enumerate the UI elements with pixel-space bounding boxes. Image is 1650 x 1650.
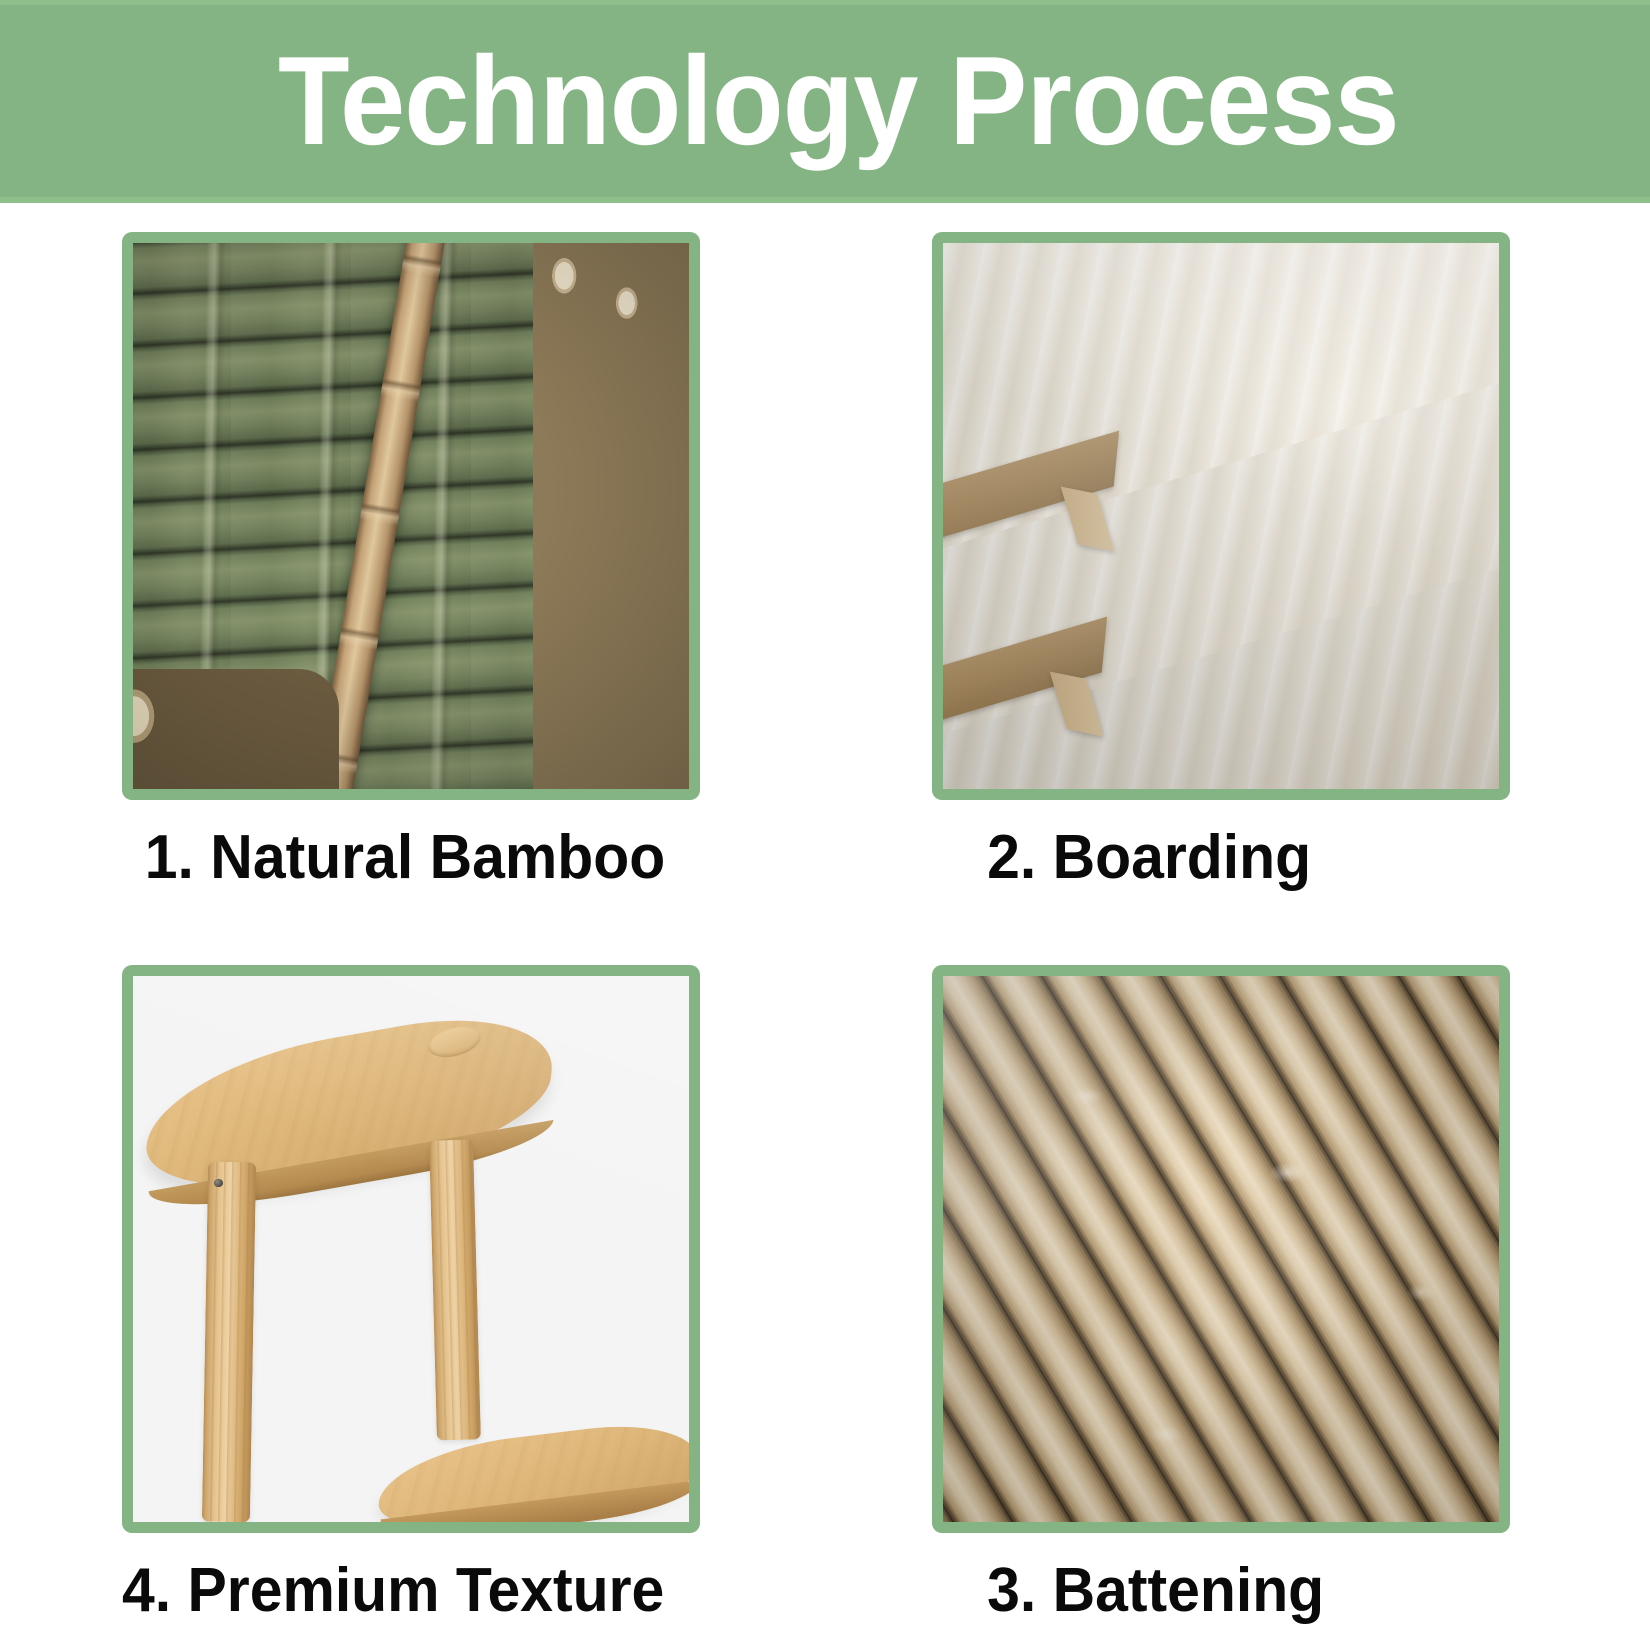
bamboo-battens-illustration [943, 976, 1499, 1522]
table-screw [214, 1179, 222, 1187]
bamboo-side-table-illustration [133, 976, 689, 1522]
process-step-1: 1. Natural Bamboo [122, 232, 700, 893]
photo-lighting-overlay [943, 976, 1499, 1522]
step-3-caption: 3. Battening [932, 1555, 1481, 1626]
photo-premium-texture [133, 976, 689, 1522]
step-4-caption: 4. Premium Texture [122, 1555, 671, 1626]
process-step-4: 4. Premium Texture [122, 965, 700, 1626]
process-steps-grid: 1. Natural Bamboo 2. [0, 203, 1650, 1650]
image-frame-step-1 [122, 232, 700, 800]
bamboo-poles-illustration [133, 243, 689, 789]
process-step-3: 3. Battening [932, 965, 1510, 1626]
page-title: Technology Process [278, 38, 1399, 164]
table-leg-front [202, 1161, 256, 1522]
bamboo-boards-illustration [943, 243, 1499, 789]
process-step-2: 2. Boarding [932, 232, 1510, 893]
header-banner: Technology Process [0, 0, 1650, 203]
image-frame-step-3 [932, 965, 1510, 1533]
photo-boarding [943, 243, 1499, 789]
photo-vignette [133, 243, 689, 789]
technology-process-infographic: Technology Process 1. Natura [0, 0, 1650, 1650]
image-frame-step-2 [932, 232, 1510, 800]
photo-natural-bamboo [133, 243, 689, 789]
photo-lighting-overlay [943, 243, 1499, 789]
photo-battening [943, 976, 1499, 1522]
table-leg-back [429, 1139, 481, 1440]
step-2-caption: 2. Boarding [932, 822, 1481, 893]
step-1-caption: 1. Natural Bamboo [122, 822, 671, 893]
image-frame-step-4 [122, 965, 700, 1533]
